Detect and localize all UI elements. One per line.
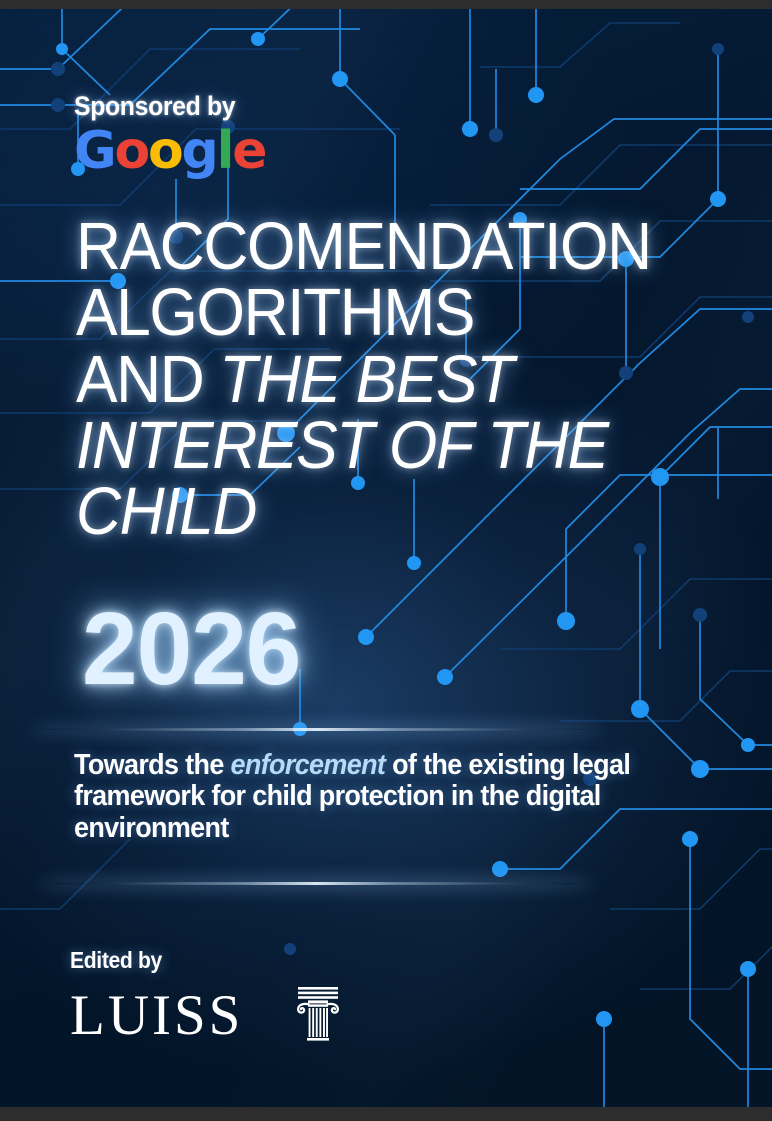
edited-by-label: Edited by (70, 947, 322, 974)
title-line-4: INTEREST OF THE (76, 413, 671, 479)
luiss-wordmark: LUISS (70, 987, 243, 1044)
google-letter-4: g (182, 121, 217, 181)
subtitle-emphasis: enforcement (231, 749, 386, 781)
book-cover-page: Sponsored by Google RACCOMENDATION ALGOR… (0, 0, 772, 1121)
google-letter-5: l (217, 121, 233, 181)
title-line-3-italic: THE BEST (219, 342, 513, 417)
bottom-chrome-bar (0, 1107, 772, 1121)
sponsored-by-label: Sponsored by (74, 91, 250, 122)
subtitle-part-before: Towards the (74, 749, 231, 781)
ionic-column-icon (293, 986, 343, 1044)
title-line-2: ALGORITHMS (76, 280, 671, 346)
top-chrome-bar (0, 0, 772, 9)
google-letter-2: o (114, 121, 148, 181)
title-line-1: RACCOMENDATION (76, 214, 671, 280)
page-title: RACCOMENDATION ALGORITHMS AND THE BEST I… (76, 214, 671, 546)
year-label: 2026 (82, 597, 300, 700)
google-logo: Google (74, 124, 265, 179)
google-letter-6: e (232, 121, 265, 181)
editor-logos: LUISS (70, 986, 343, 1044)
editor-block: Edited by LUISS (70, 947, 343, 1044)
google-letter-1: G (74, 121, 114, 181)
title-line-3-upright: AND (76, 342, 219, 417)
google-letter-3: o (148, 121, 182, 181)
divider-below-subtitle (44, 882, 589, 885)
sponsor-block: Sponsored by Google (74, 91, 265, 179)
title-line-3: AND THE BEST (76, 347, 671, 413)
title-line-5: CHILD (76, 479, 671, 545)
divider-above-subtitle (36, 728, 596, 731)
page-subtitle: Towards the enforcement of the existing … (74, 750, 632, 844)
poster-canvas: Sponsored by Google RACCOMENDATION ALGOR… (0, 9, 772, 1107)
